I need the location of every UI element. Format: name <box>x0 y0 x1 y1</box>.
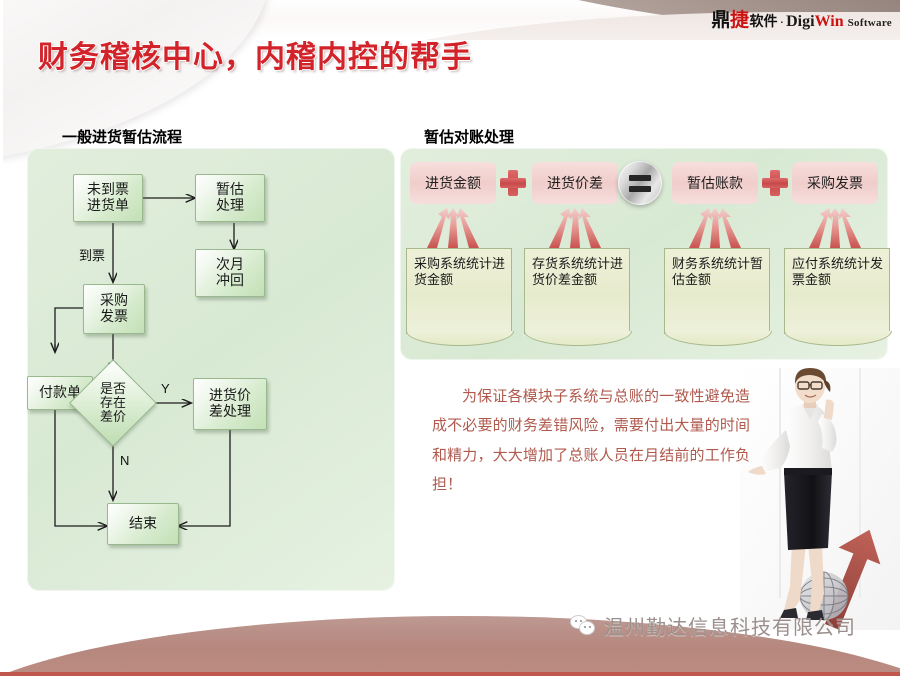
recon-term-purchase-invoice[interactable]: 采购发票 <box>792 162 878 204</box>
flow-node-unbilled-order[interactable]: 未到票 进货单 <box>73 174 143 222</box>
equals-bar-bottom <box>629 186 651 192</box>
footer-brand: 温州勤达信息科技有限公司 <box>570 611 856 640</box>
equals-icon <box>618 161 662 205</box>
logo-text-ruanjian: 软件 <box>749 11 777 31</box>
flow-node-line1: 是否 <box>100 382 126 396</box>
purchase-estimate-flowchart: 未到票 进货单 暂估 处理 次月 冲回 采购 发票 付款单 是否 存在 差价 <box>27 148 395 591</box>
flow-node-line2: 差处理 <box>209 404 251 420</box>
recon-source-inventory-system[interactable]: 存货系统统计进货价差金额 <box>524 248 630 334</box>
flow-edge-label-no: N <box>120 453 129 468</box>
recon-term-purchase-amount[interactable]: 进货金额 <box>410 162 496 204</box>
logo-char-jie: 捷 <box>730 5 749 32</box>
flow-node-line2: 处理 <box>216 198 244 214</box>
footer-accent-rule <box>0 672 900 676</box>
flow-node-estimate-processing[interactable]: 暂估 处理 <box>195 174 265 222</box>
left-edge-strip <box>0 0 3 676</box>
recon-term-estimated-payable[interactable]: 暂估账款 <box>672 162 758 204</box>
logo-text-win: Win <box>815 13 844 31</box>
equals-bar-top <box>629 175 651 181</box>
flow-edge-label-yes: Y <box>161 381 170 396</box>
wechat-dot <box>589 626 591 628</box>
flow-node-price-diff-processing[interactable]: 进货价 差处理 <box>193 378 267 430</box>
flow-node-purchase-invoice[interactable]: 采购 发票 <box>83 284 145 334</box>
logo-text-digi: Digi <box>786 13 814 31</box>
recon-section-heading: 暂估对账处理 <box>424 126 514 147</box>
flow-node-price-difference-decision[interactable]: 是否 存在 差价 <box>65 360 161 446</box>
flow-node-line3: 差价 <box>100 410 126 424</box>
arrow-fan-icon <box>425 208 481 248</box>
wechat-dot <box>580 620 582 622</box>
businesswoman-photo <box>740 368 900 630</box>
flow-node-line1: 未到票 <box>87 182 129 198</box>
arrow-fan-icon <box>807 208 863 248</box>
flow-edge-label-billed: 到票 <box>79 245 105 264</box>
flow-node-line1: 次月 <box>216 257 244 273</box>
logo-separator-dot: · <box>779 13 784 29</box>
wechat-icon <box>570 615 596 636</box>
flow-node-line1: 暂估 <box>216 182 244 198</box>
arrow-fan-icon <box>687 208 743 248</box>
digiwin-logo: 鼎 捷 软件 · Digi Win Software <box>711 5 892 32</box>
slide-title: 财务稽核中心，内稽内控的帮手 <box>38 32 472 76</box>
flow-node-end[interactable]: 结束 <box>107 503 179 545</box>
plus-icon <box>500 170 526 196</box>
footer-company-name: 温州勤达信息科技有限公司 <box>604 611 856 640</box>
flow-node-line2: 进货单 <box>87 198 129 214</box>
wechat-bubble-small <box>579 621 595 635</box>
recon-source-payable-system[interactable]: 应付系统统计发票金额 <box>784 248 890 334</box>
plus-icon <box>762 170 788 196</box>
flow-node-line2: 发票 <box>100 309 128 325</box>
recon-term-purchase-price-diff[interactable]: 进货价差 <box>532 162 618 204</box>
estimate-reconciliation-diagram: 进货金额 进货价差 暂估账款 采购发票 <box>400 148 888 360</box>
slide-canvas: 鼎 捷 软件 · Digi Win Software 财务稽核中心，内稽内控的帮… <box>0 0 900 676</box>
flow-node-line1: 结束 <box>129 516 157 532</box>
narrative-paragraph: 为保证各模块子系统与总账的一致性避免造成不必要的财务差错风险，需要付出大量的时间… <box>432 382 750 499</box>
diamond-label: 是否 存在 差价 <box>100 382 126 424</box>
flow-node-next-month-reversal[interactable]: 次月 冲回 <box>195 249 265 297</box>
arrow-fan-icon <box>547 208 603 248</box>
recon-source-purchasing-system[interactable]: 采购系统统计进货金额 <box>406 248 512 334</box>
logo-char-ding: 鼎 <box>711 5 730 32</box>
flow-node-line2: 存在 <box>100 396 126 410</box>
flow-node-line2: 冲回 <box>216 273 244 289</box>
wechat-dot <box>584 626 586 628</box>
recon-source-finance-system[interactable]: 财务系统统计暂估金额 <box>664 248 770 334</box>
logo-text-software: Software <box>848 17 892 29</box>
flow-node-line1: 采购 <box>100 293 128 309</box>
flow-section-heading: 一般进货暂估流程 <box>62 126 182 147</box>
flow-node-line1: 进货价 <box>209 388 251 404</box>
wechat-dot <box>575 620 577 622</box>
